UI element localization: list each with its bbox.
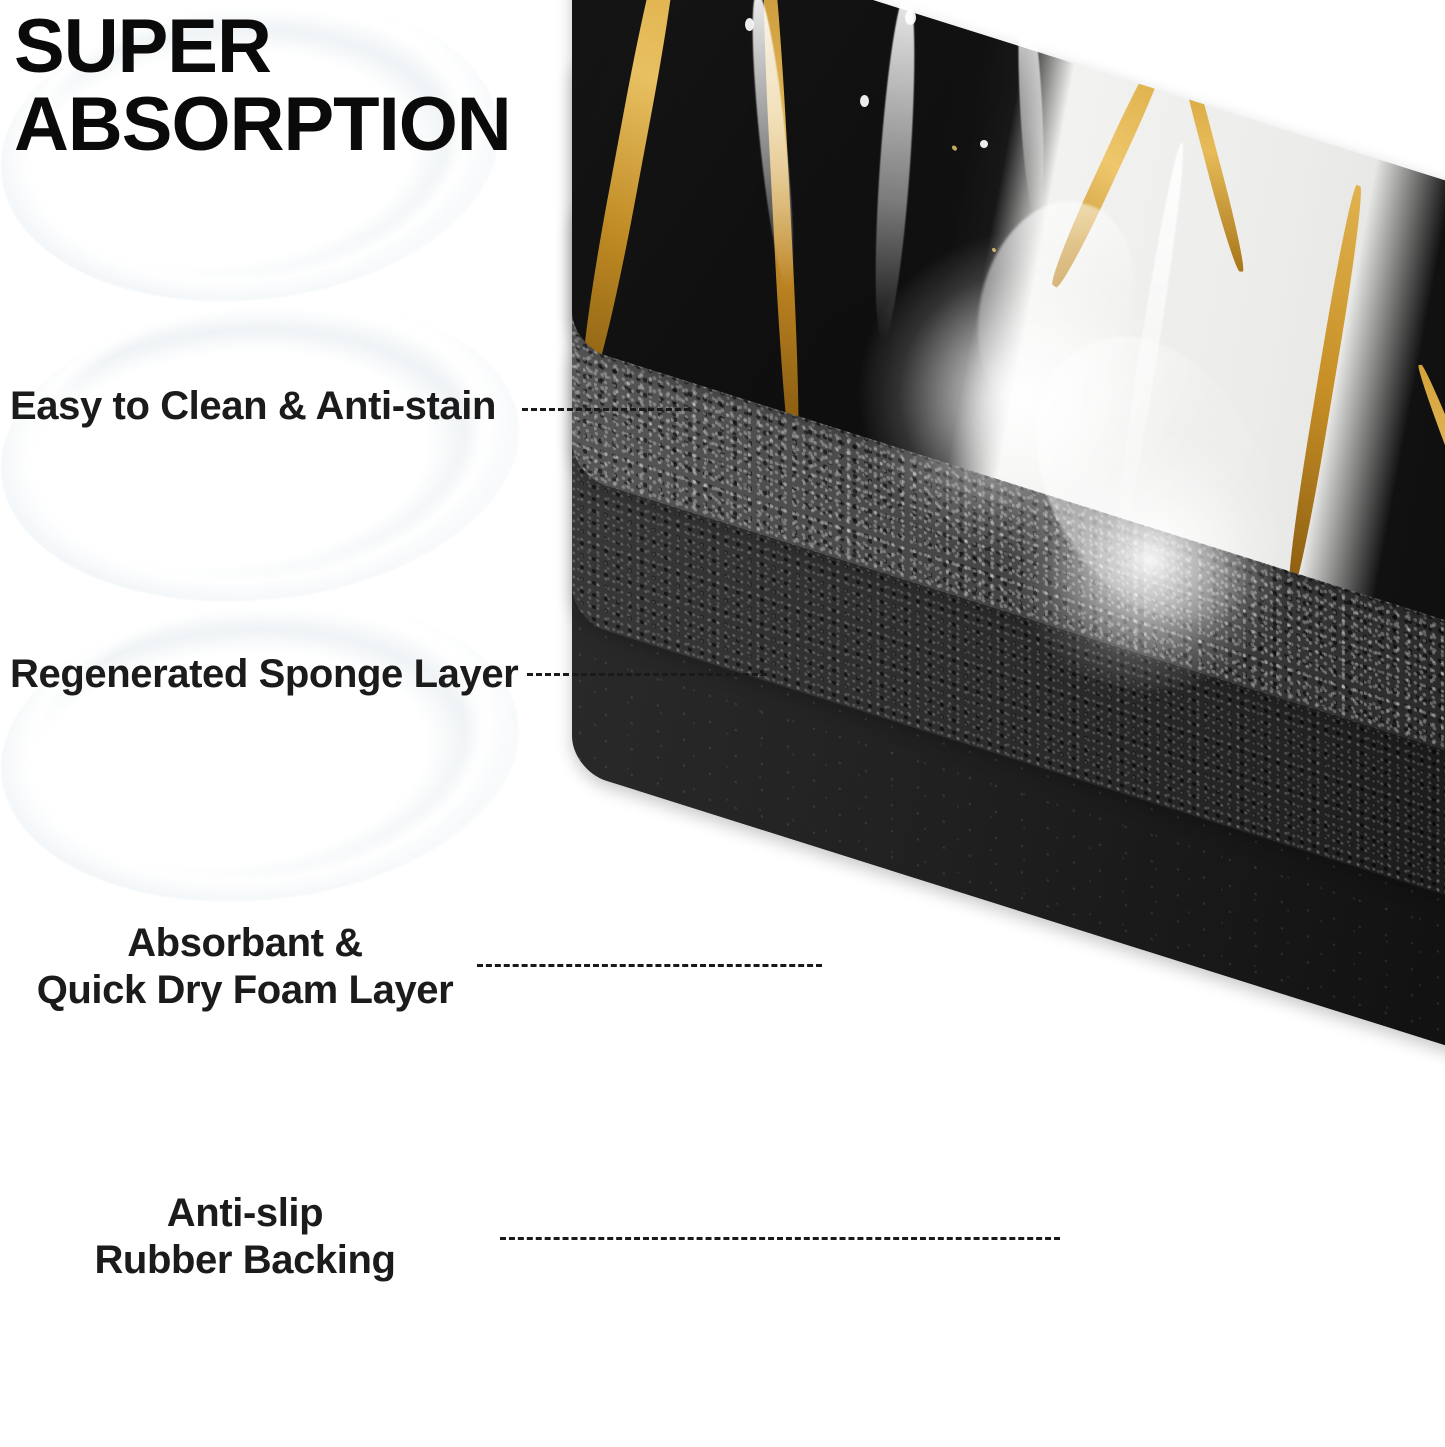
gold-fleck: [952, 145, 957, 152]
gold-vein: [1046, 38, 1174, 292]
gold-vein: [574, 0, 687, 392]
leader-line-anti-slip-rubber: [500, 1237, 1060, 1240]
gold-vein: [758, 0, 803, 467]
callout-regenerated-sponge: Regenerated Sponge Layer: [10, 651, 518, 698]
callout-easy-to-clean: Easy to Clean & Anti-stain: [10, 383, 496, 430]
gold-vein: [1283, 182, 1366, 593]
leader-line-easy-to-clean: [522, 408, 690, 411]
callout-anti-slip-rubber: Anti-slip Rubber Backing: [30, 1190, 460, 1284]
page-title: SUPER ABSORPTION: [14, 8, 511, 163]
leader-line-absorbant-foam: [477, 964, 822, 967]
gold-vein: [1171, 30, 1249, 271]
infographic-canvas: SUPER ABSORPTION Easy to Clean & Anti-st…: [0, 0, 1445, 1447]
gold-fleck: [992, 247, 996, 252]
callout-absorbant-foam: Absorbant & Quick Dry Foam Layer: [30, 920, 460, 1014]
leader-line-regenerated-sponge: [527, 673, 767, 676]
